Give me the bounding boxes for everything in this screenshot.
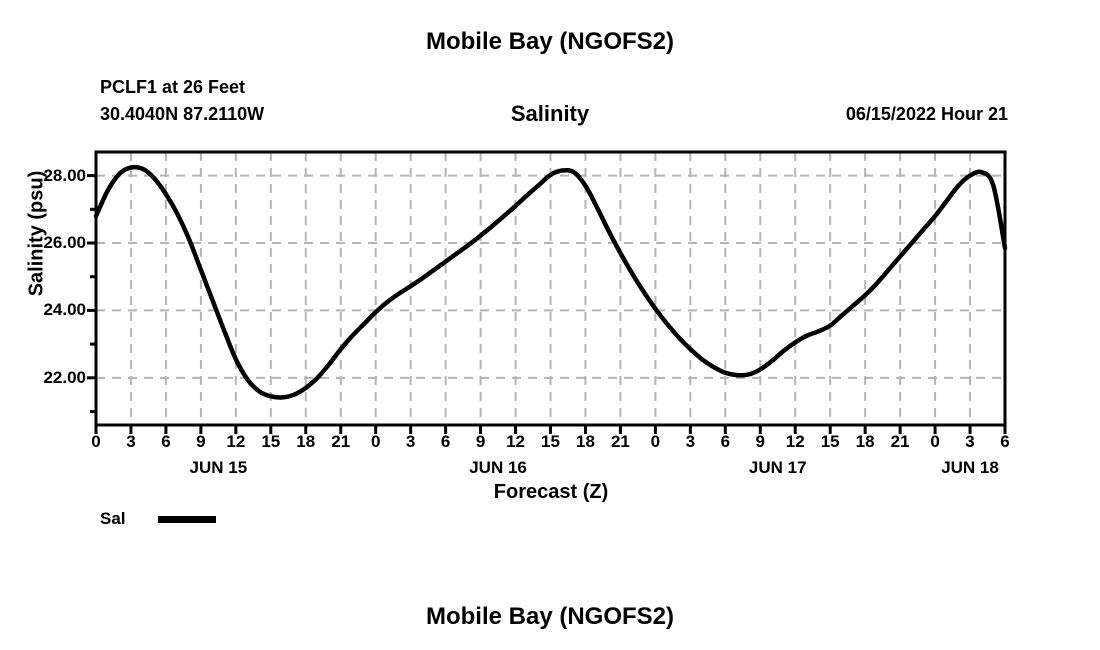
- y-tick-label: 24.00: [8, 300, 86, 320]
- y-tick-label: 26.00: [8, 233, 86, 253]
- y-tick-label: 28.00: [8, 166, 86, 186]
- day-label: JUN 15: [158, 458, 278, 478]
- salinity-time-series-plot: [0, 0, 1100, 650]
- axis-ticks: [87, 176, 1005, 434]
- legend-label-sal: Sal: [100, 509, 126, 529]
- legend-swatch-sal: [158, 516, 216, 523]
- day-label: JUN 16: [438, 458, 558, 478]
- chart-figure: Mobile Bay (NGOFS2) PCLF1 at 26 Feet 30.…: [0, 0, 1100, 650]
- chart-footer-title: Mobile Bay (NGOFS2): [0, 603, 1100, 631]
- x-tick-label: 6: [985, 432, 1025, 452]
- day-label: JUN 18: [910, 458, 1030, 478]
- gridlines: [96, 152, 1005, 425]
- y-tick-label: 22.00: [8, 368, 86, 388]
- day-label: JUN 17: [718, 458, 838, 478]
